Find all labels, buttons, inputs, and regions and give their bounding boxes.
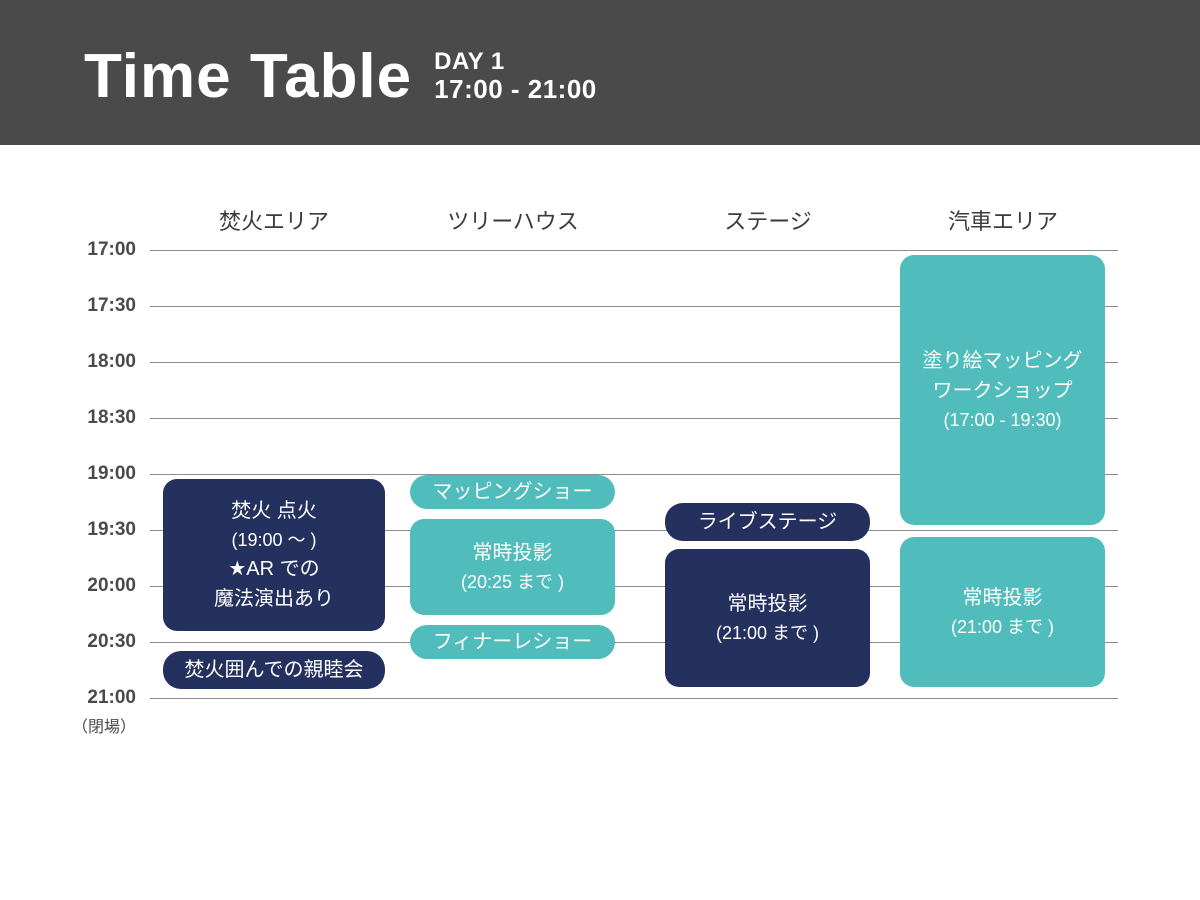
day-label: DAY 1: [434, 49, 597, 75]
event-line-1: 常時投影: [963, 583, 1043, 613]
time-label-1700: 17:00: [0, 239, 136, 261]
event-line-3: (17:00 - 19:30): [943, 406, 1061, 434]
event-line-1: ライブステージ: [698, 507, 838, 537]
time-label-1900: 19:00: [0, 463, 136, 485]
gridline-2100: [150, 698, 1118, 699]
time-label-1830: 18:30: [0, 407, 136, 429]
time-label-1800: 18:00: [0, 351, 136, 373]
header-content: Time Table DAY 1 17:00 - 21:00: [84, 44, 597, 110]
closing-note: （閉場）: [0, 713, 136, 737]
event-line-1: 常時投影: [728, 589, 808, 619]
event-line-1: フィナーレショー: [433, 627, 593, 657]
event-line-2: (20:25 まで ): [461, 568, 564, 596]
event-line-3: ★AR での: [228, 554, 319, 584]
event-line-1: 常時投影: [473, 538, 553, 568]
event-block-coloring-workshop[interactable]: 塗り絵マッピング ワークショップ (17:00 - 19:30): [900, 255, 1105, 525]
time-label-1930: 19:30: [0, 519, 136, 541]
event-block-bonfire-ignite[interactable]: 焚火 点火 (19:00 ～ ) ★AR での 魔法演出あり: [163, 479, 385, 631]
event-line-2: (21:00 まで ): [951, 613, 1054, 641]
event-line-1: マッピングショー: [433, 477, 593, 507]
event-block-finale-show[interactable]: フィナーレショー: [410, 625, 615, 659]
column-header-bonfire: 焚火エリア: [152, 205, 396, 239]
event-block-train-projection[interactable]: 常時投影 (21:00 まで ): [900, 537, 1105, 687]
event-line-1: 塗り絵マッピング: [923, 346, 1083, 376]
gridline-1700: [150, 250, 1118, 251]
page-title: Time Table: [84, 44, 412, 110]
event-line-2: (21:00 まで ): [716, 619, 819, 647]
event-block-live-stage[interactable]: ライブステージ: [665, 503, 870, 541]
page-header: Time Table DAY 1 17:00 - 21:00: [0, 0, 1200, 145]
event-line-1: 焚火囲んでの親睦会: [185, 655, 364, 685]
time-range-label: 17:00 - 21:00: [434, 75, 597, 104]
event-block-bonfire-social[interactable]: 焚火囲んでの親睦会: [163, 651, 385, 689]
event-block-stage-projection[interactable]: 常時投影 (21:00 まで ): [665, 549, 870, 687]
time-label-2100: 21:00: [0, 687, 136, 709]
time-label-1730: 17:30: [0, 295, 136, 317]
event-block-treehouse-projection[interactable]: 常時投影 (20:25 まで ): [410, 519, 615, 615]
event-line-1: 焚火 点火: [231, 496, 317, 526]
event-line-2: (19:00 ～ ): [231, 526, 316, 554]
event-block-mapping-show[interactable]: マッピングショー: [410, 475, 615, 509]
event-line-4: 魔法演出あり: [214, 584, 334, 614]
event-line-2: ワークショップ: [933, 376, 1073, 406]
time-label-2000: 20:00: [0, 575, 136, 597]
header-subtitle: DAY 1 17:00 - 21:00: [434, 49, 597, 110]
timetable-chart: 焚火エリア ツリーハウス ステージ 汽車エリア 17:00 17:30 18:0…: [0, 145, 1200, 900]
column-header-treehouse: ツリーハウス: [400, 205, 626, 239]
column-header-stage: ステージ: [655, 205, 881, 239]
column-header-train: 汽車エリア: [890, 205, 1116, 239]
time-label-2030: 20:30: [0, 631, 136, 653]
